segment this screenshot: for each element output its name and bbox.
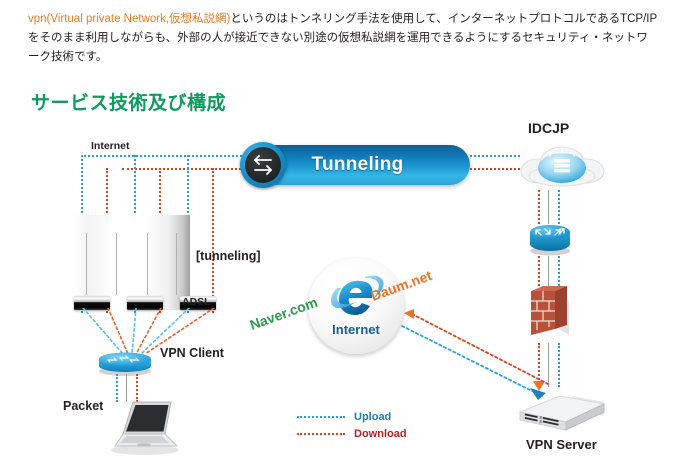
firewall-server-upload: [558, 343, 560, 387]
intro-paragraph: vpn(Virtual private Network,仮想私説網)というのはト…: [28, 10, 658, 67]
tunnel-rib: [176, 233, 177, 295]
vpn-client-router-icon: [96, 350, 154, 376]
client-solid-link: [126, 374, 127, 402]
download-trunk-line: [122, 168, 257, 170]
legend-row-upload: Upload: [297, 408, 407, 425]
pill-to-cloud-download: [470, 168, 520, 170]
cloud-router-solid: [548, 190, 549, 224]
router-firewall-download: [538, 256, 540, 286]
idcjp-label: IDCJP: [528, 120, 569, 136]
upload-trunk-line: [81, 155, 257, 157]
download-drop-3: [212, 168, 214, 313]
adsl-label: ADSL: [182, 296, 211, 308]
section-heading: サービス技術及び構成: [31, 88, 226, 115]
legend-row-download: Download: [297, 425, 407, 442]
intro-highlight-term: vpn(Virtual private Network,仮想私説網): [28, 13, 230, 25]
upload-line-swatch: [297, 416, 345, 418]
vpn-server-icon: [516, 388, 608, 434]
internet-badge-label: Internet: [308, 322, 404, 337]
pill-to-cloud-upload: [470, 155, 520, 157]
client-upload-link: [116, 374, 118, 402]
download-line-swatch: [297, 433, 345, 435]
client-download-link: [136, 374, 138, 402]
router-firewall-solid: [548, 256, 549, 286]
bidirectional-arrows-icon: [240, 142, 286, 188]
vpn-client-label: VPN Client: [160, 346, 224, 360]
router-firewall-upload: [558, 256, 560, 286]
idc-cloud-icon: [516, 140, 610, 190]
cloud-router-download: [538, 190, 540, 224]
tunnel-rib: [116, 233, 117, 295]
packet-label: Packet: [63, 399, 103, 413]
tunnel-rib: [86, 233, 87, 295]
cloud-router-upload: [558, 190, 560, 224]
tunneling-bracket-label: [tunneling]: [196, 249, 261, 263]
upload-legend-label: Upload: [354, 411, 391, 423]
legend: Upload Download: [297, 408, 407, 442]
internet-label: Internet: [91, 140, 130, 152]
laptop-icon: [105, 400, 183, 456]
vpn-server-label: VPN Server: [526, 437, 597, 452]
download-legend-label: Download: [354, 428, 407, 440]
idc-router-icon: [527, 222, 573, 256]
internet-explorer-badge: Internet: [308, 258, 404, 354]
tunnel-rib: [147, 233, 148, 295]
